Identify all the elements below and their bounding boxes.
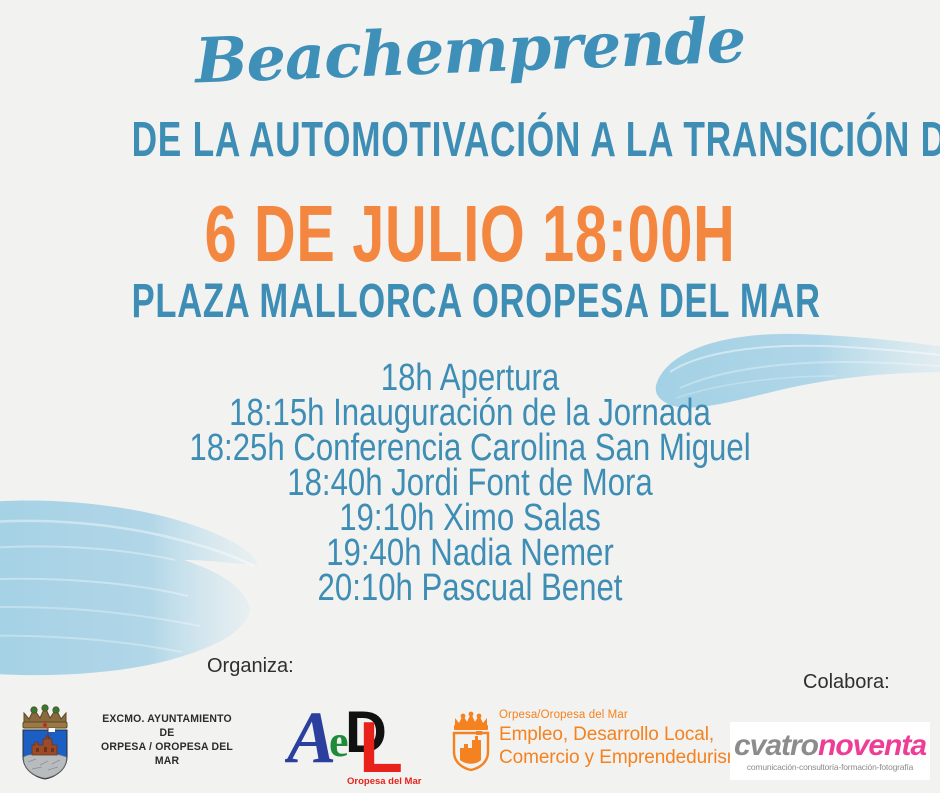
- empleo-logo-text: Orpesa/Oropesa del Mar Empleo, Desarroll…: [499, 708, 753, 769]
- ayuntamiento-line-2: DE: [89, 726, 245, 740]
- poster-venue: PLAZA MALLORCA OROPESA DEL MAR: [132, 274, 809, 329]
- schedule-item: 18:25h Conferencia Carolina San Miguel: [85, 431, 856, 466]
- cuatronoventa-wordmark: cvatronoventa: [734, 731, 926, 761]
- poster-script-title: Beachemprende: [0, 0, 940, 105]
- empleo-eyebrow: Orpesa/Oropesa del Mar: [499, 709, 753, 722]
- schedule-item: 18:40h Jordi Font de Mora: [85, 466, 856, 501]
- empleo-line-1: Empleo, Desarrollo Local,: [499, 723, 753, 746]
- ayuntamiento-logo-text: EXCMO. AYUNTAMIENTO DE ORPESA / OROPESA …: [89, 712, 245, 768]
- logo-cuatronoventa: cvatronoventa comunicación-consultoría-f…: [730, 722, 930, 780]
- poster-headline: DE LA AUTOMOTIVACIÓN A LA TRANSICIÓN DIG…: [132, 112, 809, 168]
- logo-empleo-desarrollo-local: Orpesa/Oropesa del Mar Empleo, Desarroll…: [450, 708, 726, 782]
- ayuntamiento-line-3: ORPESA / OROPESA DEL MAR: [89, 740, 245, 768]
- cuatronoventa-tagline: comunicación-consultoría-formación-fotog…: [747, 762, 913, 772]
- schedule-item: 18h Apertura: [85, 361, 856, 396]
- empleo-line-2: Comercio y Emprendedurismo: [499, 746, 753, 769]
- cuatronoventa-word-pink: noventa: [818, 729, 926, 762]
- schedule-item: 18:15h Inauguración de la Jornada: [85, 396, 856, 431]
- schedule-list: 18h Apertura 18:15h Inauguración de la J…: [0, 361, 940, 606]
- event-poster: Beachemprende DE LA AUTOMOTIVACIÓN A LA …: [0, 0, 940, 788]
- schedule-item: 19:10h Ximo Salas: [85, 501, 856, 536]
- aedl-logo-icon: A e D L Oropesa del Mar: [285, 700, 445, 788]
- ayuntamiento-line-1: EXCMO. AYUNTAMIENTO: [89, 712, 245, 726]
- colabora-label: Colabora:: [803, 671, 890, 694]
- empleo-crest-icon: [450, 710, 492, 772]
- logo-ayuntamiento-oropesa: EXCMO. AYUNTAMIENTO DE ORPESA / OROPESA …: [14, 698, 249, 782]
- cuatronoventa-word-grey: cvatro: [734, 729, 818, 762]
- aedl-subtitle: Oropesa del Mar: [347, 776, 422, 787]
- schedule-item: 20:10h Pascual Benet: [85, 571, 856, 606]
- ayuntamiento-crest-icon: [14, 699, 76, 781]
- schedule-item: 19:40h Nadia Nemer: [85, 536, 856, 571]
- poster-date-time: 6 DE JULIO 18:00H: [132, 188, 809, 280]
- logo-aedl-oropesa: A e D L Oropesa del Mar: [285, 700, 445, 788]
- organiza-label: Organiza:: [207, 655, 294, 678]
